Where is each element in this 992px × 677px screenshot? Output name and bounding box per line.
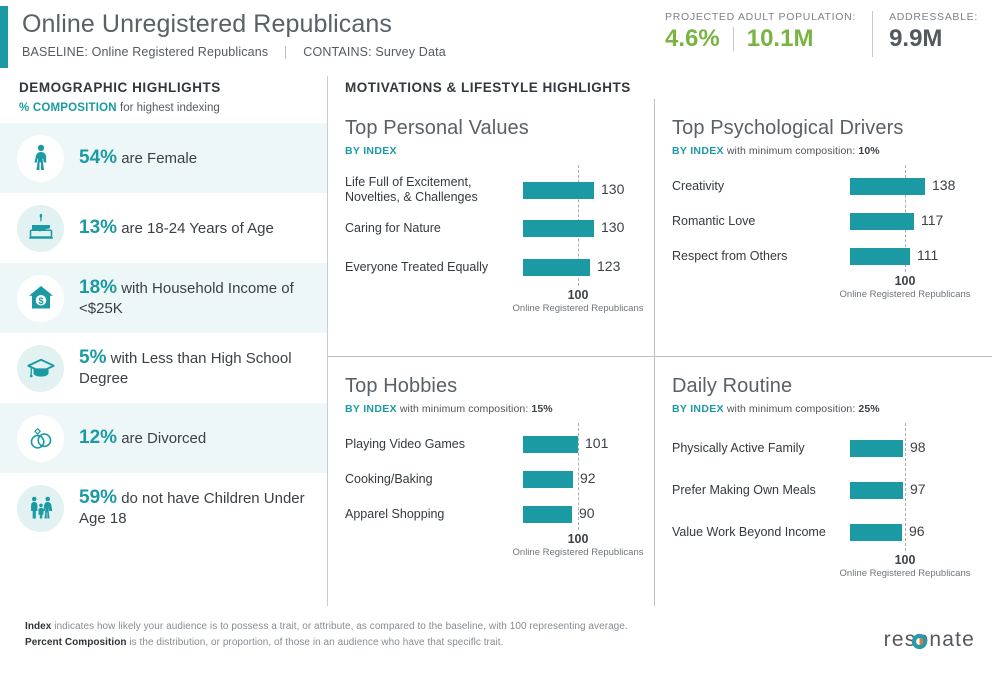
chart-bar-row: Apparel Shopping90	[345, 499, 642, 530]
demographic-description: with Less than High School Degree	[79, 350, 292, 387]
footer-index-line: Index indicates how likely your audience…	[25, 619, 628, 635]
chart-by-index: BY INDEX	[345, 145, 397, 157]
header-stats: PROJECTED ADULT POPULATION: 4.6% 10.1M A…	[665, 11, 978, 57]
chart-axis-note: 100Online Registered Republicans	[835, 553, 975, 580]
footer-index-term: Index	[25, 621, 51, 632]
chart-baseline-caption: Online Registered Republicans	[835, 289, 975, 301]
chart-bar-value: 101	[585, 435, 608, 451]
resonate-logo: resonate	[884, 628, 975, 652]
baseline-label: BASELINE: Online Registered Republicans	[22, 45, 268, 59]
report-footer: Index indicates how likely your audience…	[0, 606, 992, 677]
demographic-description: are Female	[117, 150, 197, 167]
projected-population-stat: PROJECTED ADULT POPULATION: 4.6% 10.1M	[665, 11, 856, 54]
birthday-cake-icon	[17, 205, 64, 252]
demographic-percent: 13%	[79, 217, 117, 238]
chart-bar-label: Physically Active Family	[672, 441, 835, 456]
chart-bar	[523, 471, 573, 488]
wedding-rings-icon	[17, 415, 64, 462]
demographic-row: 54% are Female	[0, 123, 327, 193]
chart-bar	[523, 436, 578, 453]
chart-bar	[850, 248, 910, 265]
chart-min-composition: 15%	[531, 403, 552, 415]
chart-bar-label: Caring for Nature	[345, 221, 508, 236]
footer-composition-term: Percent Composition	[25, 637, 127, 648]
demographic-row-text: 12% are Divorced	[79, 428, 218, 449]
page-title: Online Unregistered Republicans	[22, 8, 446, 40]
chart-bar	[850, 482, 903, 499]
chart-plot: Life Full of Excitement, Novelties, & Ch…	[345, 171, 642, 286]
chart-baseline-value: 100	[508, 288, 648, 302]
resonate-swirl-icon	[911, 633, 928, 650]
chart-title: Top Personal Values	[345, 116, 642, 141]
addressable-count: 9.9M	[889, 24, 942, 54]
chart-bar-value: 130	[601, 181, 624, 197]
demographic-row-text: 54% are Female	[79, 148, 209, 169]
composition-rest: for highest indexing	[117, 102, 220, 114]
chart-quadrant: Top HobbiesBY INDEX with minimum composi…	[328, 357, 654, 606]
addressable-stat: ADDRESSABLE: 9.9M	[889, 11, 978, 54]
chart-bar-row: Caring for Nature130	[345, 213, 642, 244]
footer-composition-line: Percent Composition is the distribution,…	[25, 635, 628, 651]
chart-bar	[523, 182, 594, 199]
demographic-percent: 59%	[79, 487, 117, 508]
chart-baseline-caption: Online Registered Republicans	[508, 547, 648, 559]
svg-text:$: $	[38, 296, 43, 306]
chart-title: Top Psychological Drivers	[672, 116, 969, 141]
demographic-row-text: 59% do not have Children Under Age 18	[79, 488, 327, 529]
chart-bar	[850, 213, 914, 230]
addressable-values: 9.9M	[889, 24, 978, 54]
house-money-icon: $	[17, 275, 64, 322]
addressable-label: ADDRESSABLE:	[889, 11, 978, 23]
chart-sub-rest: with minimum composition:	[397, 403, 532, 415]
chart-subtitle: BY INDEX with minimum composition: 10%	[672, 145, 969, 157]
chart-bar-label: Apparel Shopping	[345, 507, 508, 522]
chart-subtitle: BY INDEX with minimum composition: 15%	[345, 403, 642, 415]
chart-bar-row: Everyone Treated Equally123	[345, 248, 642, 286]
report-header: Online Unregistered Republicans BASELINE…	[0, 0, 992, 76]
chart-quadrants: Top Personal ValuesBY INDEXLife Full of …	[328, 99, 992, 606]
chart-quadrant: Daily RoutineBY INDEX with minimum compo…	[655, 357, 981, 606]
demographic-row: 5% with Less than High School Degree	[0, 333, 327, 403]
chart-bar-label: Playing Video Games	[345, 437, 508, 452]
chart-subtitle: BY INDEX	[345, 145, 642, 157]
chart-baseline-value: 100	[835, 274, 975, 288]
chart-baseline-value: 100	[835, 553, 975, 567]
demographics-subtitle: % COMPOSITION for highest indexing	[0, 95, 327, 123]
chart-bar-value: 111	[917, 247, 938, 263]
chart-bar-row: Cooking/Baking92	[345, 464, 642, 495]
projected-population-values: 4.6% 10.1M	[665, 24, 856, 54]
chart-bar-label: Creativity	[672, 179, 835, 194]
demographic-row-text: 13% are 18-24 Years of Age	[79, 218, 286, 239]
demographics-list: 54% are Female13% are 18-24 Years of Age…	[0, 123, 327, 543]
composition-term: % COMPOSITION	[19, 102, 117, 114]
demographic-percent: 54%	[79, 147, 117, 168]
chart-bar-value: 96	[909, 523, 925, 539]
chart-title: Top Hobbies	[345, 374, 642, 399]
chart-bar	[850, 178, 925, 195]
chart-sub-rest: with minimum composition:	[724, 145, 859, 157]
motivations-panel: MOTIVATIONS & LIFESTYLE HIGHLIGHTS Top P…	[328, 76, 992, 95]
chart-axis-note: 100Online Registered Republicans	[508, 288, 648, 315]
demographic-row: 12% are Divorced	[0, 403, 327, 473]
chart-bar-value: 98	[910, 439, 926, 455]
demographic-row-text: 18% with Household Income of <$25K	[79, 278, 327, 319]
demographic-row: 13% are 18-24 Years of Age	[0, 193, 327, 263]
logo-wordmark: resonate	[884, 628, 975, 652]
chart-bar-row: Prefer Making Own Meals97	[672, 471, 969, 509]
header-title-block: Online Unregistered Republicans BASELINE…	[22, 8, 446, 59]
graduation-cap-icon	[17, 345, 64, 392]
chart-bar-label: Respect from Others	[672, 249, 835, 264]
demographic-percent: 5%	[79, 347, 106, 368]
chart-bar-row: Life Full of Excitement, Novelties, & Ch…	[345, 171, 642, 209]
demographic-row-text: 5% with Less than High School Degree	[79, 348, 327, 389]
chart-bar-label: Romantic Love	[672, 214, 835, 229]
demographic-row: $18% with Household Income of <$25K	[0, 263, 327, 333]
demographics-panel: DEMOGRAPHIC HIGHLIGHTS % COMPOSITION for…	[0, 76, 327, 543]
motivations-section-title: MOTIVATIONS & LIFESTYLE HIGHLIGHTS	[328, 76, 992, 95]
subline-divider	[285, 46, 286, 59]
chart-bar-label: Value Work Beyond Income	[672, 525, 835, 540]
demographics-section-title: DEMOGRAPHIC HIGHLIGHTS	[0, 76, 327, 95]
footer-index-text: indicates how likely your audience is to…	[51, 621, 627, 632]
chart-baseline-value: 100	[508, 532, 648, 546]
chart-bar-value: 97	[910, 481, 926, 497]
projected-population-label: PROJECTED ADULT POPULATION:	[665, 11, 856, 23]
chart-bar-row: Romantic Love117	[672, 206, 969, 237]
chart-quadrant: Top Psychological DriversBY INDEX with m…	[655, 99, 981, 356]
chart-bar-label: Life Full of Excitement, Novelties, & Ch…	[345, 175, 508, 205]
footer-composition-text: is the distribution, or proportion, of t…	[127, 637, 504, 648]
chart-bar-label: Everyone Treated Equally	[345, 260, 508, 275]
chart-bar-value: 138	[932, 177, 955, 193]
chart-subtitle: BY INDEX with minimum composition: 25%	[672, 403, 969, 415]
chart-quadrant: Top Personal ValuesBY INDEXLife Full of …	[328, 99, 654, 356]
chart-axis-note: 100Online Registered Republicans	[835, 274, 975, 301]
chart-by-index: BY INDEX	[345, 403, 397, 415]
stat-outer-divider	[872, 11, 873, 57]
demographic-percent: 18%	[79, 277, 117, 298]
chart-bar-value: 92	[580, 470, 596, 486]
chart-bar	[850, 524, 902, 541]
projected-population-count: 10.1M	[747, 24, 814, 54]
chart-bar-label: Cooking/Baking	[345, 472, 508, 487]
projected-population-pct: 4.6%	[665, 24, 720, 54]
contains-label: CONTAINS: Survey Data	[303, 45, 446, 59]
chart-bar-row: Respect from Others111	[672, 241, 969, 272]
chart-baseline-caption: Online Registered Republicans	[508, 303, 648, 315]
chart-bar-row: Creativity138	[672, 171, 969, 202]
family-icon	[17, 485, 64, 532]
chart-bar	[523, 220, 594, 237]
report-body: DEMOGRAPHIC HIGHLIGHTS % COMPOSITION for…	[0, 76, 992, 606]
chart-bar-value: 123	[597, 258, 620, 274]
report-page: Online Unregistered Republicans BASELINE…	[0, 0, 992, 677]
chart-bar-row: Playing Video Games101	[345, 429, 642, 460]
stat-inner-divider	[733, 27, 734, 51]
demographic-description: are 18-24 Years of Age	[117, 220, 274, 237]
header-subline: BASELINE: Online Registered Republicans …	[22, 45, 446, 59]
chart-baseline-caption: Online Registered Republicans	[835, 568, 975, 580]
chart-bar	[523, 259, 590, 276]
chart-bar-row: Physically Active Family98	[672, 429, 969, 467]
chart-bar-row: Value Work Beyond Income96	[672, 513, 969, 551]
chart-bar-value: 117	[921, 212, 943, 228]
chart-bar	[523, 506, 572, 523]
chart-bar	[850, 440, 903, 457]
demographic-row: 59% do not have Children Under Age 18	[0, 473, 327, 543]
chart-bar-label: Prefer Making Own Meals	[672, 483, 835, 498]
chart-title: Daily Routine	[672, 374, 969, 399]
chart-plot: Physically Active Family98Prefer Making …	[672, 429, 969, 551]
header-accent-bar	[0, 6, 8, 68]
footer-legend: Index indicates how likely your audience…	[25, 619, 628, 651]
chart-bar-value: 130	[601, 219, 624, 235]
chart-min-composition: 10%	[858, 145, 879, 157]
chart-min-composition: 25%	[858, 403, 879, 415]
demographic-description: are Divorced	[117, 430, 206, 447]
chart-plot: Creativity138Romantic Love117Respect fro…	[672, 171, 969, 272]
chart-by-index: BY INDEX	[672, 403, 724, 415]
chart-sub-rest: with minimum composition:	[724, 403, 859, 415]
chart-plot: Playing Video Games101Cooking/Baking92Ap…	[345, 429, 642, 530]
female-icon	[17, 135, 64, 182]
chart-by-index: BY INDEX	[672, 145, 724, 157]
chart-bar-value: 90	[579, 505, 595, 521]
chart-axis-note: 100Online Registered Republicans	[508, 532, 648, 559]
demographic-percent: 12%	[79, 427, 117, 448]
